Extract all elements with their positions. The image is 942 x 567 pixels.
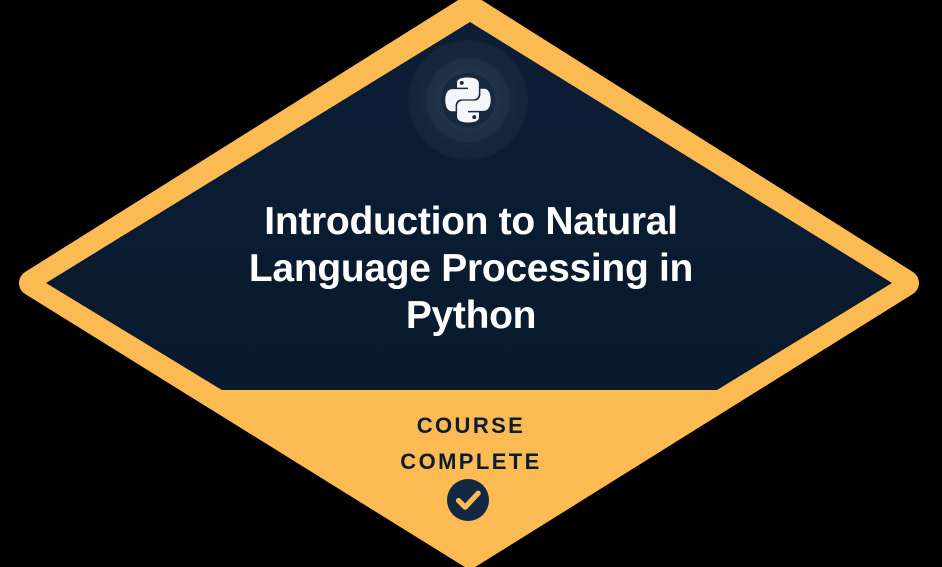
status-panel-background (0, 380, 942, 567)
course-completion-badge: Introduction to Natural Language Process… (0, 0, 942, 567)
check-badge-circle (447, 479, 489, 521)
badge-artwork (0, 0, 942, 567)
check-circle-icon (447, 479, 489, 521)
